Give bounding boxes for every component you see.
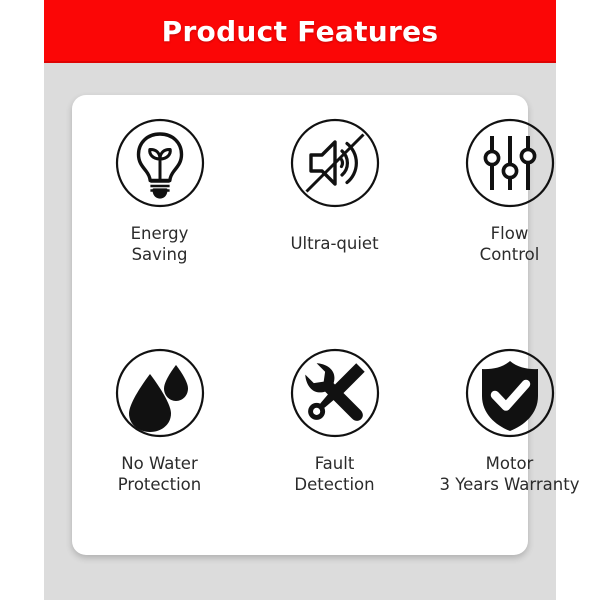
header-banner: Product Features xyxy=(44,0,556,63)
features-card: Energy Saving Ultra-quiet xyxy=(72,95,528,555)
feature-label: No Water Protection xyxy=(72,453,247,495)
water-droplets-icon xyxy=(112,345,208,441)
features-grid: Energy Saving Ultra-quiet xyxy=(72,95,528,555)
feature-ultra-quiet: Ultra-quiet xyxy=(247,95,422,325)
feature-energy-saving: Energy Saving xyxy=(72,95,247,325)
feature-label: Ultra-quiet xyxy=(247,233,422,254)
feature-motor-warranty: Motor 3 Years Warranty xyxy=(422,325,597,555)
sliders-icon xyxy=(462,115,558,211)
lightbulb-leaf-icon xyxy=(112,115,208,211)
feature-label: Motor 3 Years Warranty xyxy=(422,453,597,495)
shield-check-icon xyxy=(462,345,558,441)
feature-label: Energy Saving xyxy=(72,223,247,265)
product-features-page: Product Features Energy Saving xyxy=(0,0,600,600)
feature-label: Flow Control xyxy=(422,223,597,265)
feature-label: Fault Detection xyxy=(247,453,422,495)
page-title: Product Features xyxy=(162,15,439,48)
feature-no-water-protection: No Water Protection xyxy=(72,325,247,555)
muted-speaker-icon xyxy=(287,115,383,211)
feature-fault-detection: Fault Detection xyxy=(247,325,422,555)
wrench-screwdriver-icon xyxy=(287,345,383,441)
feature-flow-control: Flow Control xyxy=(422,95,597,325)
